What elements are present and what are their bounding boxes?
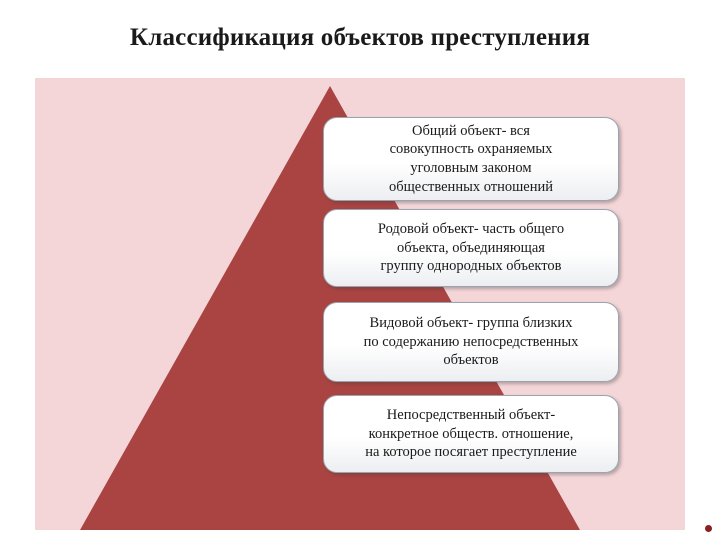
callout-line: по содержанию непосредственных <box>364 333 579 352</box>
callout-level-1-text: Общий объект- вся совокупность охраняемы… <box>389 122 553 196</box>
page-title: Классификация объектов преступления <box>0 24 720 52</box>
callout-level-2-text: Родовой объект- часть общего объекта, об… <box>378 220 564 276</box>
callout-level-3[interactable]: Видовой объект- группа близких по содерж… <box>323 302 619 382</box>
callout-line: объектов <box>364 351 579 370</box>
diagram-canvas: Общий объект- вся совокупность охраняемы… <box>35 78 685 530</box>
callout-line: Видовой объект- группа близких <box>364 314 579 333</box>
callout-line: группу однородных объектов <box>378 257 564 276</box>
callout-line: Общий объект- вся <box>389 122 553 141</box>
callout-line: Непосредственный объект- <box>365 406 577 425</box>
callout-line: на которое посягает преступление <box>365 443 577 462</box>
corner-dot-icon <box>705 525 712 532</box>
callout-level-3-text: Видовой объект- группа близких по содерж… <box>364 314 579 370</box>
callout-line: объекта, объединяющая <box>378 239 564 258</box>
callout-line: уголовным законом <box>389 159 553 178</box>
callout-level-2[interactable]: Родовой объект- часть общего объекта, об… <box>323 209 619 287</box>
callout-line: совокупность охраняемых <box>389 140 553 159</box>
callout-line: общественных отношений <box>389 178 553 197</box>
slide: Классификация объектов преступления Общи… <box>0 0 720 540</box>
callout-line: конкретное обществ. отношение, <box>365 425 577 444</box>
callout-level-1[interactable]: Общий объект- вся совокупность охраняемы… <box>323 117 619 201</box>
callout-level-4-text: Непосредственный объект- конкретное обще… <box>365 406 577 462</box>
callout-level-4[interactable]: Непосредственный объект- конкретное обще… <box>323 395 619 473</box>
callout-line: Родовой объект- часть общего <box>378 220 564 239</box>
callout-group: Общий объект- вся совокупность охраняемы… <box>35 78 685 530</box>
